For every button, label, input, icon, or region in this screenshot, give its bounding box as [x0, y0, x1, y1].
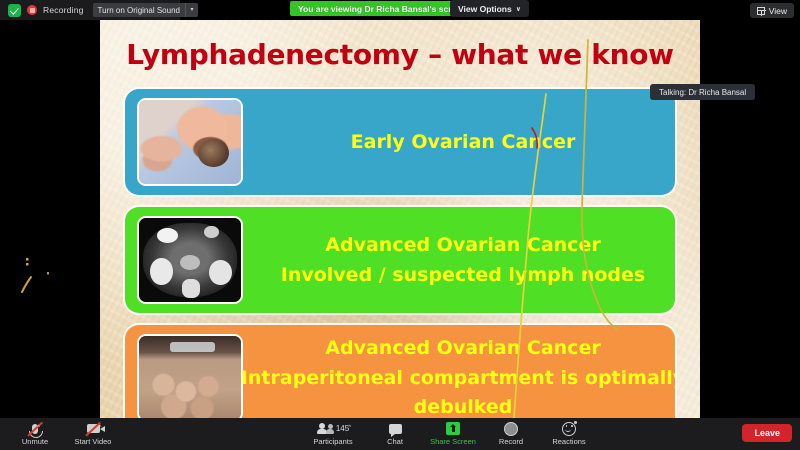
- view-options-button[interactable]: View Options ∨: [450, 0, 529, 17]
- record-label: Record: [499, 437, 523, 446]
- viewing-screen-text: You are viewing Dr Richa Bansal's screen: [298, 4, 466, 14]
- original-sound-label: Turn on Original Sound: [93, 6, 185, 15]
- leave-button[interactable]: Leave: [742, 424, 792, 442]
- reactions-smiley-icon: [562, 421, 576, 436]
- view-button-label: View: [769, 6, 787, 16]
- meeting-controls-bar: ^ Unmute ^ Start Video 145 ^ Participant: [0, 418, 800, 450]
- unmute-button[interactable]: ^ Unmute: [6, 419, 64, 446]
- slide-row-advanced-intraperitoneal: Advanced Ovarian Cancer Intraperitoneal …: [125, 325, 675, 418]
- view-options-label: View Options: [458, 4, 512, 14]
- chat-label: Chat: [387, 437, 403, 446]
- camera-off-icon: ^: [87, 421, 100, 436]
- audio-options-caret[interactable]: ^: [37, 425, 40, 431]
- share-screen-icon: [446, 421, 460, 436]
- reactions-label: Reactions: [552, 437, 585, 446]
- meeting-actions-group: 145 ^ Participants Chat Share Screen Rec…: [300, 419, 598, 450]
- share-screen-button[interactable]: Share Screen: [424, 419, 482, 446]
- chat-bubble-icon: [389, 421, 402, 436]
- video-options-caret[interactable]: ^: [99, 425, 102, 431]
- participants-count: 145: [336, 424, 349, 433]
- chat-button[interactable]: Chat: [366, 419, 424, 446]
- intraoperative-peritoneum-photo: [137, 334, 243, 418]
- record-circle-icon: [504, 421, 518, 436]
- talking-label: Talking: Dr Richa Bansal: [659, 88, 746, 97]
- talking-indicator: Talking: Dr Richa Bansal: [650, 84, 755, 100]
- record-button[interactable]: Record: [482, 419, 540, 446]
- unmute-label: Unmute: [22, 437, 48, 446]
- viewing-screen-banner: You are viewing Dr Richa Bansal's screen: [290, 1, 474, 16]
- slide-row-advanced-lymph-nodes: Advanced Ovarian Cancer Involved / suspe…: [125, 207, 675, 313]
- shield-check-icon[interactable]: [8, 4, 21, 17]
- reactions-button[interactable]: Reactions: [540, 419, 598, 446]
- abdominal-ct-scan-image: [137, 216, 243, 304]
- microphone-muted-icon: ^: [32, 421, 38, 436]
- slide-row-early-ovarian-cancer: Early Ovarian Cancer: [125, 89, 675, 195]
- av-controls-group: ^ Unmute ^ Start Video: [6, 419, 122, 450]
- participants-label: Participants: [313, 437, 352, 446]
- row-line: Early Ovarian Cancer: [351, 132, 576, 153]
- ovarian-anatomy-illustration: [137, 98, 243, 186]
- top-bar-left-group: Recording Turn on Original Sound ▾: [0, 0, 180, 20]
- row-line: Involved / suspected lymph nodes: [281, 265, 645, 286]
- start-video-label: Start Video: [75, 437, 112, 446]
- row-line: Advanced Ovarian Cancer: [325, 235, 600, 256]
- participants-button[interactable]: 145 ^ Participants: [300, 419, 366, 446]
- chevron-down-icon[interactable]: ▾: [186, 3, 198, 17]
- row-line: Advanced Ovarian Cancer: [325, 338, 600, 359]
- participants-caret[interactable]: ^: [348, 425, 351, 431]
- chevron-down-icon: ∨: [516, 5, 521, 13]
- grid-view-icon: [757, 7, 765, 15]
- original-sound-button[interactable]: Turn on Original Sound ▾: [93, 3, 198, 17]
- recording-label: Recording: [43, 5, 84, 15]
- recording-indicator-icon[interactable]: [27, 5, 37, 15]
- row-line: Intraperitoneal compartment is optimally: [241, 368, 675, 389]
- shared-screen-viewport[interactable]: Lymphadenectomy – what we know Early Ova…: [100, 20, 700, 418]
- leave-label: Leave: [754, 428, 780, 438]
- view-layout-button[interactable]: View: [750, 3, 794, 18]
- row-line: debulked: [414, 397, 513, 418]
- start-video-button[interactable]: ^ Start Video: [64, 419, 122, 446]
- share-screen-label: Share Screen: [430, 437, 476, 446]
- meeting-top-bar: Recording Turn on Original Sound ▾ You a…: [0, 0, 800, 20]
- participants-icon: 145 ^: [317, 421, 349, 436]
- zoom-meeting-window: Lymphadenectomy – what we know Early Ova…: [0, 0, 800, 450]
- slide-title: Lymphadenectomy – what we know: [100, 38, 700, 71]
